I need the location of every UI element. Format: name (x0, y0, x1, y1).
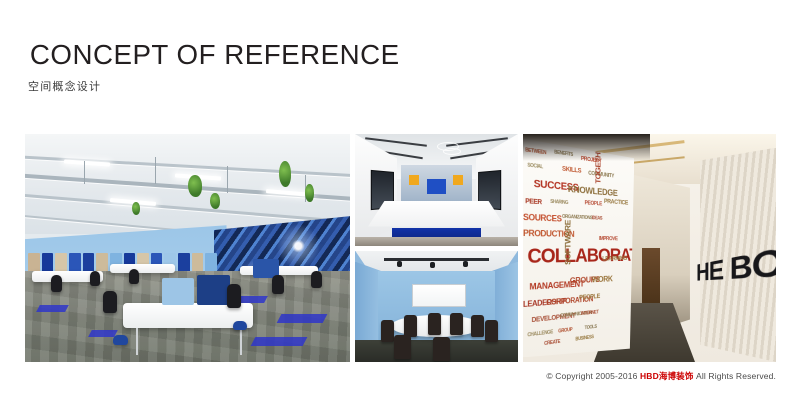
word-cloud-surface: BETWEEN BENEFITS PROJECT SOCIAL SKILLS C… (523, 139, 617, 358)
gallery-column-middle (355, 134, 518, 362)
gallery-column-left (25, 134, 350, 362)
track-spotlight (397, 261, 402, 267)
task-chair (272, 275, 284, 294)
whiteboard (412, 284, 466, 307)
slide-canvas: CONCEPT OF REFERENCE 空间概念设计 (0, 0, 800, 400)
track-spotlight (463, 261, 468, 267)
word-cloud-wall: BETWEEN BENEFITS PROJECT SOCIAL SKILLS C… (523, 139, 634, 358)
desk-privacy-screen (162, 278, 195, 305)
cloud-word: PEOPLE (585, 200, 602, 207)
brand-hbd: HBD (640, 371, 659, 381)
desk-leg (240, 328, 242, 355)
meeting-chair (381, 320, 394, 342)
copyright-suffix: All Rights Reserved. (693, 371, 776, 381)
blue-glass-door (427, 179, 447, 195)
meeting-chair (394, 335, 411, 359)
meeting-chair (471, 315, 484, 337)
hanging-plant (305, 184, 314, 202)
desk-privacy-screen (197, 275, 230, 305)
task-chair (311, 271, 322, 288)
cloud-word: SHARING (550, 200, 568, 206)
orange-accent-panel (409, 175, 419, 185)
meeting-chair (485, 320, 498, 342)
photo-wordcloud-corridor[interactable]: HE BO BETWEEN BENEFITS PROJECT SOCIAL SK… (523, 134, 776, 362)
photo-blue-meeting-room[interactable] (355, 251, 518, 363)
task-chair (129, 269, 139, 284)
hanging-plant (279, 161, 291, 187)
desk-leg (136, 328, 138, 355)
task-chair (113, 335, 128, 345)
task-chair (90, 271, 100, 286)
copyright-prefix: © Copyright 2005-2016 (546, 371, 640, 381)
cloud-word: SKILLS (562, 165, 581, 174)
photo-white-corridor-reception[interactable] (355, 134, 518, 246)
hanging-plant (188, 175, 202, 197)
cloud-word: PEER (525, 198, 542, 206)
cloud-word: PRACTICE (604, 198, 628, 206)
cloud-word: SOCIAL (527, 163, 543, 170)
photo-open-plan-office[interactable] (25, 134, 350, 362)
meeting-chair (433, 337, 450, 361)
orange-accent-panel (453, 175, 463, 185)
cloud-word: WORK (592, 275, 613, 284)
cloud-word: KNOWLEDGE (568, 184, 618, 197)
cloud-word: LEARNING (602, 255, 627, 262)
ceiling-hanger (84, 161, 85, 184)
meeting-chair (450, 313, 463, 335)
cloud-word: IDEAS (592, 216, 602, 221)
bench-desk (240, 266, 318, 275)
copyright-footer: © Copyright 2005-2016 HBD海博装饰 All Rights… (546, 370, 776, 382)
cloud-word: INTERNET (581, 311, 598, 317)
cloud-word: IMPROVE (599, 236, 618, 242)
blue-carpet-tile (250, 337, 307, 346)
gallery-column-right: HE BO BETWEEN BENEFITS PROJECT SOCIAL SK… (523, 134, 776, 362)
slide-header: CONCEPT OF REFERENCE 空间概念设计 (28, 40, 402, 94)
cloud-word: SOFTWARE (564, 219, 572, 264)
ceiling-shadow (523, 134, 650, 161)
task-chair (233, 321, 247, 330)
cloud-word: SOURCES (523, 213, 562, 223)
ceiling-hanger (227, 166, 228, 193)
reception-counter-top (368, 201, 505, 227)
hanging-plant (210, 193, 220, 209)
cloud-word: CHALLENGE (527, 330, 553, 338)
task-chair (227, 284, 241, 308)
cloud-word: CREATE (544, 339, 560, 346)
cloud-word: GROUP (558, 327, 572, 333)
page-title: CONCEPT OF REFERENCE (30, 40, 400, 69)
cloud-word: BUSINESS (575, 335, 593, 342)
floor-strip (355, 237, 518, 246)
bench-desk (110, 264, 175, 273)
task-chair (51, 275, 62, 292)
page-subtitle: 空间概念设计 (28, 78, 402, 94)
cloud-word: PEOPLE (579, 293, 600, 301)
meeting-chair (404, 315, 417, 337)
blue-carpet-tile (36, 305, 69, 312)
track-spotlight (430, 262, 435, 268)
ceiling-hanger (155, 157, 156, 184)
image-gallery: HE BO BETWEEN BENEFITS PROJECT SOCIAL SK… (25, 134, 776, 362)
task-chair (103, 291, 117, 313)
meeting-chair (428, 313, 441, 335)
brand-name-cn: 海博装饰 (659, 371, 694, 381)
end-of-corridor-door (642, 248, 660, 307)
cloud-word: TOOLS (585, 324, 597, 330)
blue-carpet-tile (276, 314, 326, 323)
